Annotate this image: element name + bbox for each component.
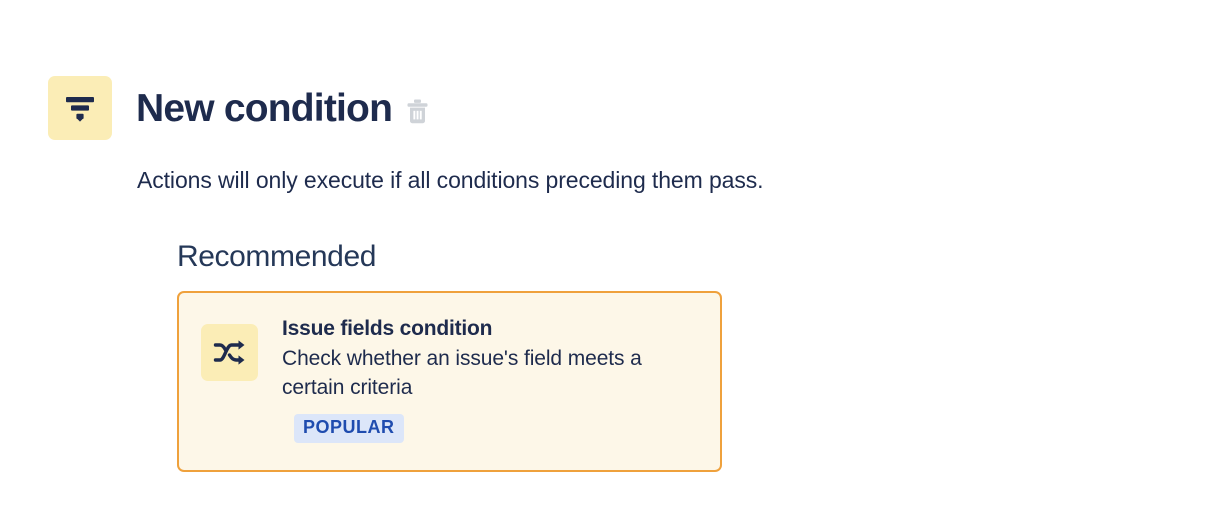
shuffle-icon [213,338,246,367]
condition-option-description: Check whether an issue's field meets a c… [282,345,682,403]
shuffle-icon-badge [201,324,258,381]
filter-icon-badge [48,76,112,140]
filter-icon [63,93,97,123]
condition-option-body: Issue fields condition Check whether an … [282,315,682,443]
badge-row: POPULAR [294,414,404,443]
title-group: New condition [136,89,429,128]
page-title: New condition [136,89,392,128]
recommended-heading: Recommended [177,240,376,273]
condition-option-card[interactable]: Issue fields condition Check whether an … [177,291,722,472]
new-condition-panel: New condition Actions will only execute … [0,0,1218,508]
panel-header: New condition [48,76,429,140]
delete-condition-button[interactable] [406,98,429,125]
trash-icon [406,98,429,125]
condition-option-title: Issue fields condition [282,315,492,342]
panel-description: Actions will only execute if all conditi… [137,165,763,196]
popular-badge: POPULAR [294,414,404,443]
